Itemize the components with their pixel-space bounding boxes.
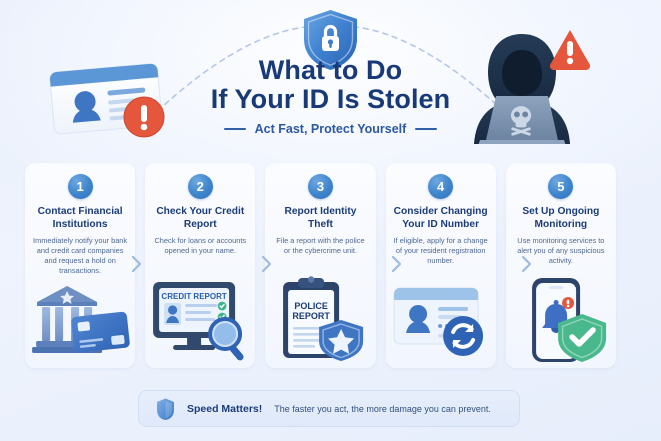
step-title: Report Identity Theft [271, 206, 369, 231]
phone-bell-shield-illustration [506, 276, 616, 362]
step-title: Consider Changing Your ID Number [392, 206, 490, 231]
refresh-icon [443, 316, 483, 356]
step-card-3[interactable]: 3 Report Identity Theft File a report wi… [265, 163, 375, 368]
magnifier-icon [210, 319, 245, 362]
report-label: REPORT [293, 311, 331, 321]
subtitle-dash-right [415, 128, 437, 130]
step-description: If eligible, apply for a change of your … [392, 236, 490, 266]
header-section: What to Do If Your ID Is Stolen Act Fast… [0, 0, 661, 160]
step-title: Set Up Ongoing Monitoring [512, 206, 610, 231]
infographic-poster: What to Do If Your ID Is Stolen Act Fast… [0, 0, 661, 441]
monitor-credit-report-magnifier-illustration: CREDIT REPORT [145, 276, 255, 362]
chevron-right-icon [130, 255, 142, 273]
chevron-right-icon [520, 255, 532, 273]
steps-row: 1 Contact Financial Institutions Immedia… [25, 163, 636, 368]
bank-and-credit-card-illustration [25, 276, 135, 362]
step-number-badge: 1 [68, 174, 93, 199]
id-card-refresh-illustration [386, 276, 496, 362]
step-number-badge: 2 [188, 174, 213, 199]
police-report-clipboard-badge-illustration: POLICE REPORT [265, 276, 375, 362]
credit-report-label: CREDIT REPORT [162, 292, 227, 301]
subtitle-dash-left [224, 128, 246, 130]
chevron-right-icon [390, 255, 402, 273]
title-block: What to Do If Your ID Is Stolen Act Fast… [0, 56, 661, 136]
step-card-1[interactable]: 1 Contact Financial Institutions Immedia… [25, 163, 135, 368]
step-description: Immediately notify your bank and credit … [31, 236, 129, 276]
chevron-right-icon [260, 255, 272, 273]
page-title-line1: What to Do [0, 56, 661, 85]
subtitle-row: Act Fast, Protect Yourself [0, 122, 661, 136]
step-card-4[interactable]: 4 Consider Changing Your ID Number If el… [386, 163, 496, 368]
step-title: Contact Financial Institutions [31, 206, 129, 231]
page-subtitle: Act Fast, Protect Yourself [255, 122, 407, 136]
banner-headline: Speed Matters! [187, 403, 262, 415]
banner-text: The faster you act, the more damage you … [274, 404, 491, 414]
police-label: POLICE [295, 301, 329, 311]
page-title-line2: If Your ID Is Stolen [0, 85, 661, 114]
shield-icon [156, 398, 175, 420]
speed-matters-banner: Speed Matters! The faster you act, the m… [138, 390, 520, 427]
step-description: Check for loans or accounts opened in yo… [151, 236, 249, 256]
step-title: Check Your Credit Report [151, 206, 249, 231]
step-description: File a report with the police or the cyb… [271, 236, 369, 256]
step-card-2[interactable]: 2 Check Your Credit Report Check for loa… [145, 163, 255, 368]
step-number-badge: 3 [308, 174, 333, 199]
step-number-badge: 5 [548, 174, 573, 199]
step-number-badge: 4 [428, 174, 453, 199]
